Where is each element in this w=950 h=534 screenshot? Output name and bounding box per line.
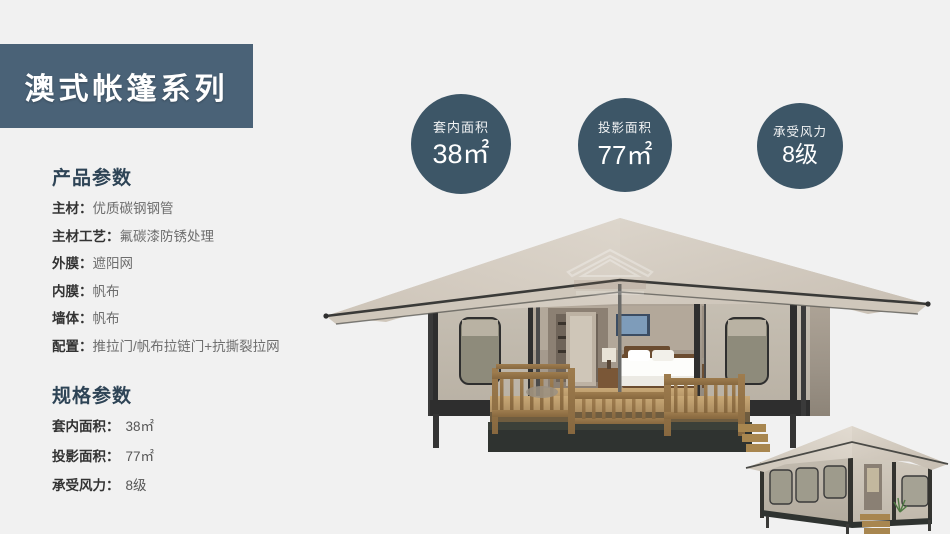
- spec-label: 套内面积：: [52, 419, 120, 434]
- spec-row: 套内面积：38㎡: [52, 420, 352, 434]
- stat-badge-wind-resistance: 承受风力 8级: [757, 103, 843, 189]
- spec-value: 77㎡: [126, 449, 155, 464]
- spec-params-block: 规格参数 套内面积：38㎡ 投影面积：77㎡ 承受风力：8级: [52, 381, 352, 493]
- param-value: 遮阳网: [93, 256, 134, 271]
- param-label: 主材：: [52, 201, 93, 216]
- stat-badge-projected-area: 投影面积 77㎡: [578, 98, 672, 192]
- param-label: 内膜：: [52, 284, 93, 299]
- param-row: 主材：优质碳钢钢管: [52, 202, 352, 216]
- page-title: 澳式帐篷系列: [25, 64, 229, 108]
- product-params-heading: 产品参数: [52, 163, 352, 190]
- product-spec-page: 澳式帐篷系列 产品参数 主材：优质碳钢钢管 主材工艺：氟碳漆防锈处理 外膜：遮阳…: [0, 0, 950, 534]
- param-label: 外膜：: [52, 256, 93, 271]
- spec-column: 产品参数 主材：优质碳钢钢管 主材工艺：氟碳漆防锈处理 外膜：遮阳网 内膜：帆布…: [52, 163, 352, 509]
- stat-badge-value: 77㎡: [598, 142, 653, 168]
- stat-badge-label: 投影面积: [598, 122, 652, 135]
- param-label: 主材工艺：: [52, 229, 120, 244]
- param-row: 配置：推拉门/帆布拉链门+抗撕裂拉网: [52, 340, 352, 354]
- param-label: 墙体：: [52, 311, 93, 326]
- stat-badge-label: 承受风力: [773, 126, 827, 139]
- product-params-block: 产品参数 主材：优质碳钢钢管 主材工艺：氟碳漆防锈处理 外膜：遮阳网 内膜：帆布…: [52, 163, 352, 353]
- param-value: 帆布: [93, 311, 120, 326]
- spec-label: 承受风力：: [52, 478, 120, 493]
- spec-row: 承受风力：8级: [52, 479, 352, 493]
- param-value: 推拉门/帆布拉链门+抗撕裂拉网: [93, 339, 280, 354]
- param-row: 主材工艺：氟碳漆防锈处理: [52, 230, 352, 244]
- page-title-banner: 澳式帐篷系列: [0, 44, 253, 128]
- param-value: 氟碳漆防锈处理: [120, 229, 215, 244]
- param-label: 配置：: [52, 339, 93, 354]
- param-row: 外膜：遮阳网: [52, 257, 352, 271]
- spec-params-heading: 规格参数: [52, 381, 352, 408]
- param-row: 墙体：帆布: [52, 312, 352, 326]
- spec-value: 8级: [126, 478, 147, 493]
- param-value: 优质碳钢钢管: [93, 201, 174, 216]
- secondary-tent-image: [742, 412, 950, 534]
- spec-row: 投影面积：77㎡: [52, 450, 352, 464]
- spec-value: 38㎡: [126, 419, 155, 434]
- stat-badge-value: 38㎡: [432, 141, 489, 168]
- stat-badge-interior-area: 套内面积 38㎡: [411, 94, 511, 194]
- stat-badge-label: 套内面积: [433, 121, 489, 134]
- spec-label: 投影面积：: [52, 449, 120, 464]
- param-row: 内膜：帆布: [52, 285, 352, 299]
- stat-badge-value: 8级: [782, 143, 818, 166]
- param-value: 帆布: [93, 284, 120, 299]
